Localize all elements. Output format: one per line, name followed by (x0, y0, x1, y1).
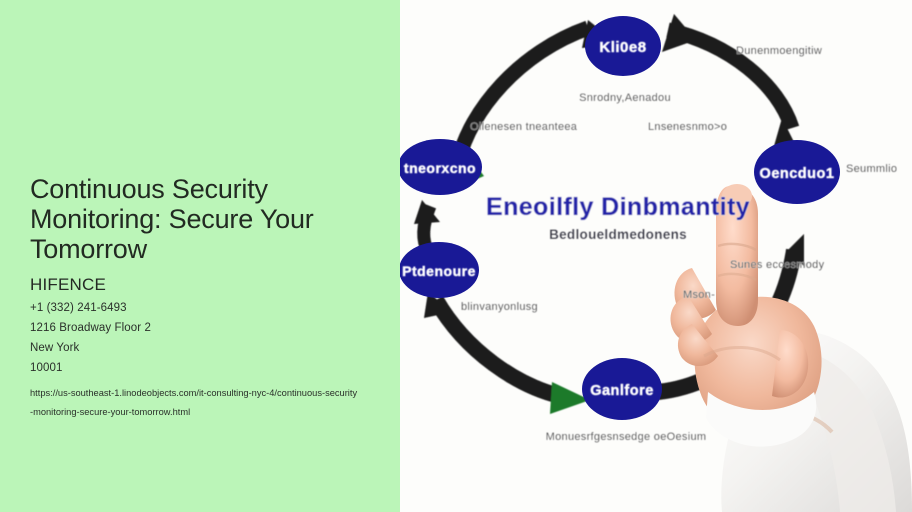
node-lower-left[interactable]: Ptdenoure (400, 242, 479, 298)
diagram-center-text: Eneoilfly Dinbmantity Bedloueldmedonens (486, 193, 750, 242)
node-bottom-label: Ganlfore (590, 383, 654, 399)
annotation-under-top: Snrodny,Aenadou (579, 92, 671, 104)
annotation-right-of-top: Lnsenesnmo>o (648, 121, 727, 133)
brand-name: HIFENCE (30, 275, 106, 295)
annotation-right-lower: Sunes eccesmody (730, 259, 825, 271)
node-right-label: Oencduo1 (760, 166, 835, 182)
node-top[interactable]: Kli0e8 (585, 16, 661, 76)
cycle-diagram: Kli0e8 Oencduo1 Ganlfore Ptdenoure (400, 0, 912, 512)
annotation-right-side: Seummlio (846, 163, 897, 175)
node-upper-left-label: tneorxcno (404, 160, 476, 176)
annotation-left-lower: blinvanyonlusg (461, 301, 538, 313)
annotation-bottom: Monuesrfgesnsedge oeOesium (546, 431, 707, 443)
contact-address: 1216 Broadway Floor 2 (30, 322, 151, 334)
pointing-hand-photo (670, 184, 912, 512)
node-bottom[interactable]: Ganlfore (582, 358, 662, 420)
page-title: Continuous Security Monitoring: Secure Y… (30, 174, 385, 264)
source-url[interactable]: https://us-southeast-1.linodeobjects.com… (30, 384, 360, 422)
node-upper-left[interactable]: tneorxcno (400, 139, 482, 195)
cycle-diagram-panel: Kli0e8 Oencduo1 Ganlfore Ptdenoure (400, 0, 912, 512)
center-subheading: Bedloueldmedonens (549, 227, 687, 242)
contact-phone: +1 (332) 241-6493 (30, 302, 127, 314)
contact-city: New York (30, 342, 79, 354)
node-lower-left-label: Ptdenoure (402, 263, 476, 279)
annotation-top-right: Dunenmoengitiw (736, 45, 822, 57)
annotation-right-lower-2: Mson- (683, 289, 715, 301)
contact-zip: 10001 (30, 362, 62, 374)
left-info-panel: Continuous Security Monitoring: Secure Y… (0, 0, 400, 512)
slide-canvas: Continuous Security Monitoring: Secure Y… (0, 0, 912, 512)
center-heading: Eneoilfly Dinbmantity (486, 193, 750, 221)
node-right[interactable]: Oencduo1 (754, 140, 840, 204)
node-top-label: Kli0e8 (599, 39, 646, 56)
annotation-left-of-top: Ollenesen tneanteea (470, 121, 578, 133)
